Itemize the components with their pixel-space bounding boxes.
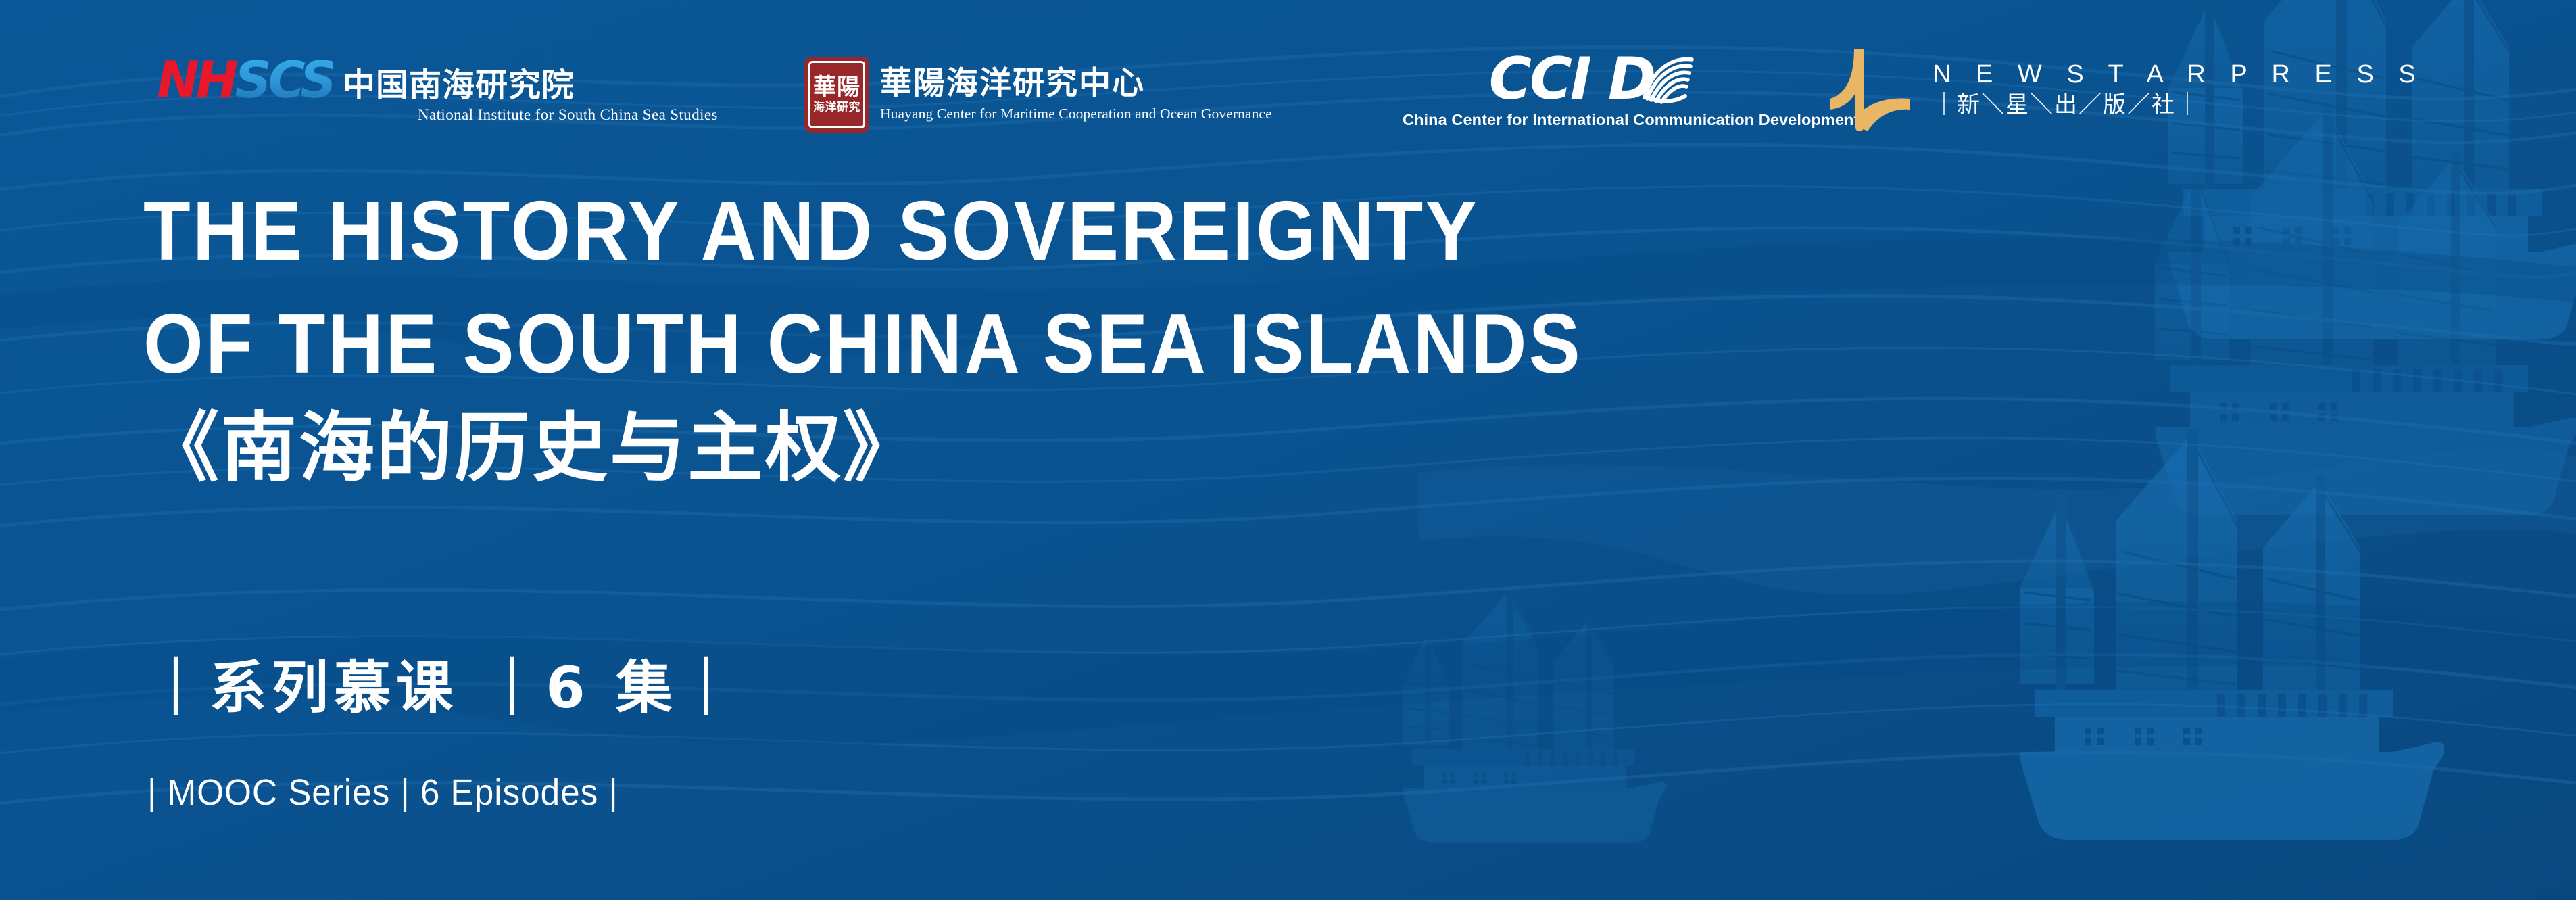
huayang-name-en: Huayang Center for Maritime Cooperation … — [880, 105, 1272, 122]
logo-nhscs[interactable]: NHSCS 中国南海研究院 National Institute for Sou… — [157, 60, 718, 124]
subtitle-block: ｜系列慕课 ｜6 集｜ | MOOC Series | 6 Episodes | — [147, 659, 740, 811]
huayang-seal-icon: 華陽 海洋研究 — [804, 57, 869, 133]
nhscs-name-cn: 中国南海研究院 — [343, 69, 575, 101]
ccicd-mark-letters: CCI D — [1489, 50, 1655, 108]
ccicd-wordmark: CCI D — [1489, 53, 1773, 108]
huayang-seal-top: 華陽 — [813, 76, 860, 99]
newstar-name-en: N E W S T A R P R E S S — [1933, 62, 2425, 87]
newstar-gold-mark-icon — [1830, 45, 1910, 133]
huayang-seal-bottom: 海洋研究 — [813, 102, 860, 114]
nhscs-mark-scs: SCS — [235, 50, 333, 110]
ccicd-name-en: China Center for International Communica… — [1403, 111, 1859, 129]
nhscs-wordmark: NHSCS — [157, 60, 333, 101]
globe-swoosh-icon — [1641, 54, 1696, 105]
partner-logo-bar: NHSCS 中国南海研究院 National Institute for Sou… — [0, 0, 2576, 169]
huayang-name-cn: 華陽海洋研究中心 — [880, 67, 1272, 100]
newstar-name-cn: ｜新＼星＼出／版／社｜ — [1933, 93, 2425, 116]
nhscs-name-en: National Institute for South China Sea S… — [418, 106, 718, 124]
logo-huayang[interactable]: 華陽 海洋研究 華陽海洋研究中心 Huayang Center for Mari… — [804, 57, 1272, 133]
nhscs-mark-nh: NH — [157, 50, 235, 110]
subtitle-cn: ｜系列慕课 ｜6 集｜ — [147, 659, 740, 716]
logo-newstar-press[interactable]: N E W S T A R P R E S S ｜新＼星＼出／版／社｜ — [1830, 45, 2425, 133]
logo-ccicd[interactable]: CCI D China Center for International Com… — [1403, 53, 1859, 129]
title-line-en-2: OF THE SOUTH CHINA SEA ISLANDS — [143, 302, 1582, 386]
title-line-cn: 《南海的历史与主权》 — [143, 410, 1707, 486]
title-line-en-1: THE HISTORY AND SOVEREIGNTY — [143, 189, 1582, 273]
subtitle-en: | MOOC Series | 6 Episodes | — [147, 774, 710, 811]
page-title: THE HISTORY AND SOVEREIGNTY OF THE SOUTH… — [143, 189, 1707, 486]
